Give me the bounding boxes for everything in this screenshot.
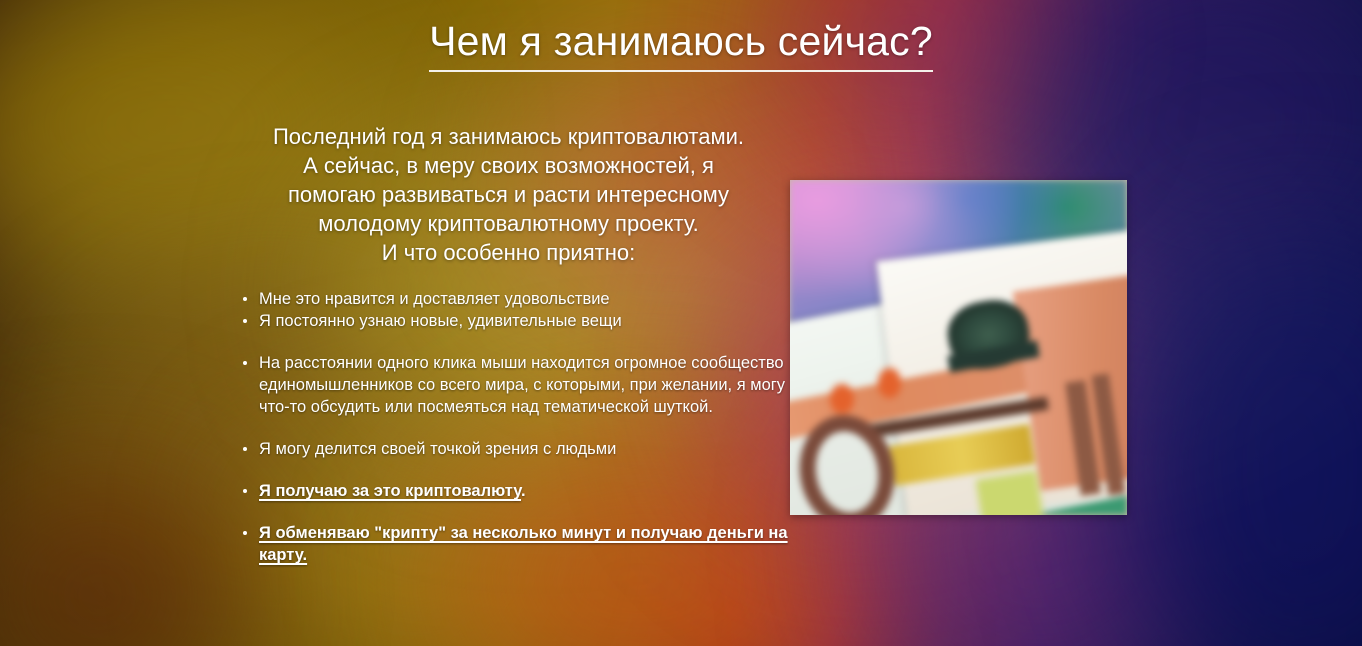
euro-banknotes-photo [790, 180, 1127, 515]
benefits-list: Мне это нравится и доставляет удовольств… [243, 288, 788, 566]
photo-blur-layer [790, 180, 1127, 515]
list-item-label: На расстоянии одного клика мыши находитс… [259, 354, 785, 416]
lead-line: И что особенно приятно: [229, 238, 788, 267]
list-item-highlight: Я обменяваю "крипту" за несколько минут … [243, 522, 788, 566]
list-item: Мне это нравится и доставляет удовольств… [243, 288, 788, 310]
list-spacer [243, 418, 788, 438]
list-item-label: Мне это нравится и доставляет удовольств… [259, 290, 610, 308]
list-item: Я постоянно узнаю новые, удивительные ве… [243, 310, 788, 332]
list-item-label: Я получаю за это криптовалюту [259, 482, 521, 500]
list-spacer [243, 460, 788, 480]
list-item-highlight: Я получаю за это криптовалюту. [243, 480, 788, 502]
list-item-label: Я постоянно узнаю новые, удивительные ве… [259, 312, 622, 330]
list-item-label: Я обменяваю "крипту" за несколько минут … [259, 524, 788, 564]
list-item-label: Я могу делится своей точкой зрения с люд… [259, 440, 616, 458]
photo-orange-dot [878, 368, 902, 398]
slide-content: Чем я занимаюсь сейчас? Последний год я … [0, 0, 1362, 646]
lead-line: Последний год я занимаюсь криптовалютами… [229, 122, 788, 151]
lead-line: помогаю развиваться и расти интересному [229, 180, 788, 209]
list-item-tail: . [521, 482, 526, 500]
list-item: На расстоянии одного клика мыши находитс… [243, 352, 788, 418]
lead-line: молодому криптовалютному проекту. [229, 209, 788, 238]
list-spacer [243, 332, 788, 352]
list-item: Я могу делится своей точкой зрения с люд… [243, 438, 788, 460]
list-spacer [243, 502, 788, 522]
lead-paragraph: Последний год я занимаюсь криптовалютами… [229, 122, 788, 267]
page-title-text: Чем я занимаюсь сейчас? [429, 20, 933, 72]
lead-line: А сейчас, в меру своих возможностей, я [229, 151, 788, 180]
page-title: Чем я занимаюсь сейчас? [0, 18, 1362, 72]
